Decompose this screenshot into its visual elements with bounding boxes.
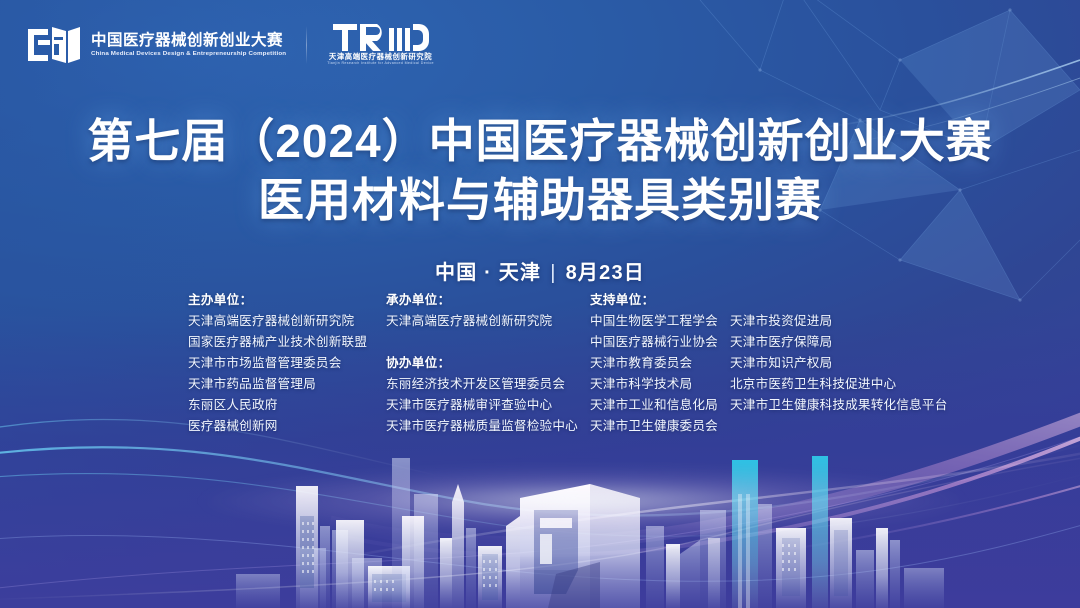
co-organizer-item: 天津市医疗器械审评查验中心 — [386, 395, 574, 416]
support-item: 天津市科学技术局 — [590, 374, 722, 395]
triid-wordmark-icon — [333, 24, 429, 51]
co-organizer-heading: 协办单位： — [386, 353, 574, 374]
host-item: 东丽区人民政府 — [188, 395, 370, 416]
organizer-column-organizer: 承办单位： 天津高端医疗器械创新研究院 协办单位： 东丽经济技术开发区管理委员会… — [386, 290, 574, 437]
event-date: 8月23日 — [566, 262, 645, 284]
support-item: 天津市工业和信息化局 — [590, 395, 722, 416]
support-item: 天津市卫生健康委员会 — [590, 416, 722, 437]
host-item: 天津高端医疗器械创新研究院 — [188, 311, 370, 332]
organizer-column-host: 主办单位： 天津高端医疗器械创新研究院 国家医疗器械产业技术创新联盟 天津市市场… — [188, 290, 370, 437]
support-item: 天津市知识产权局 — [730, 353, 940, 374]
support-item: 中国生物医学工程学会 — [590, 311, 722, 332]
logo-header: 中国医疗器械创新创业大赛 China Medical Devices Desig… — [26, 24, 434, 66]
poster-title: 第七届（2024）中国医疗器械创新创业大赛 医用材料与辅助器具类别赛 — [0, 112, 1080, 230]
organizer-column-support-a: 支持单位： 中国生物医学工程学会 中国医疗器械行业协会 天津市教育委员会 天津市… — [590, 290, 722, 437]
host-item: 天津市市场监督管理委员会 — [188, 353, 370, 374]
competition-logo-text: 中国医疗器械创新创业大赛 China Medical Devices Desig… — [91, 33, 286, 58]
title-line-1: 第七届（2024）中国医疗器械创新创业大赛 — [0, 112, 1080, 171]
triid-logo[interactable]: 天津高端医疗器械创新研究院 Tianjin Research Institute… — [327, 24, 434, 66]
host-heading: 主办单位： — [188, 290, 370, 311]
competition-logo-cn: 中国医疗器械创新创业大赛 — [91, 33, 286, 49]
support-heading: 支持单位： — [590, 290, 722, 311]
event-location-date: 中国 · 天津|8月23日 — [0, 256, 1080, 285]
organizer-block: 主办单位： 天津高端医疗器械创新研究院 国家医疗器械产业技术创新联盟 天津市市场… — [188, 290, 940, 437]
co-organizer-item: 东丽经济技术开发区管理委员会 — [386, 374, 574, 395]
support-item: 天津市投资促进局 — [730, 311, 940, 332]
host-item: 国家医疗器械产业技术创新联盟 — [188, 332, 370, 353]
triid-logo-cn: 天津高端医疗器械创新研究院 — [329, 53, 432, 60]
competition-logo[interactable]: 中国医疗器械创新创业大赛 China Medical Devices Desig… — [26, 25, 286, 65]
open-door-icon — [26, 25, 82, 65]
co-organizer-item: 天津市医疗器械质量监督检验中心 — [386, 416, 574, 437]
support-item: 天津市卫生健康科技成果转化信息平台 — [730, 395, 940, 416]
organizer-column-support-b: 天津市投资促进局 天津市医疗保障局 天津市知识产权局 北京市医药卫生科技促进中心… — [730, 290, 940, 416]
competition-logo-en: China Medical Devices Design & Entrepren… — [91, 51, 286, 57]
host-item: 天津市药品监督管理局 — [188, 374, 370, 395]
title-line-2: 医用材料与辅助器具类别赛 — [0, 171, 1080, 230]
support-item: 天津市医疗保障局 — [730, 332, 940, 353]
logo-divider — [306, 26, 307, 64]
column-spacer — [386, 332, 574, 353]
organizer-heading: 承办单位： — [386, 290, 574, 311]
triid-logo-en: Tianjin Research Institute for Advanced … — [327, 63, 434, 66]
subtitle-separator: | — [550, 262, 556, 285]
support-item: 北京市医药卫生科技促进中心 — [730, 374, 940, 395]
event-location: 中国 · 天津 — [435, 262, 541, 284]
event-poster: 中国医疗器械创新创业大赛 China Medical Devices Desig… — [0, 0, 1080, 608]
organizer-item: 天津高端医疗器械创新研究院 — [386, 311, 574, 332]
support-item: 天津市教育委员会 — [590, 353, 722, 374]
host-item: 医疗器械创新网 — [188, 416, 370, 437]
support-item: 中国医疗器械行业协会 — [590, 332, 722, 353]
